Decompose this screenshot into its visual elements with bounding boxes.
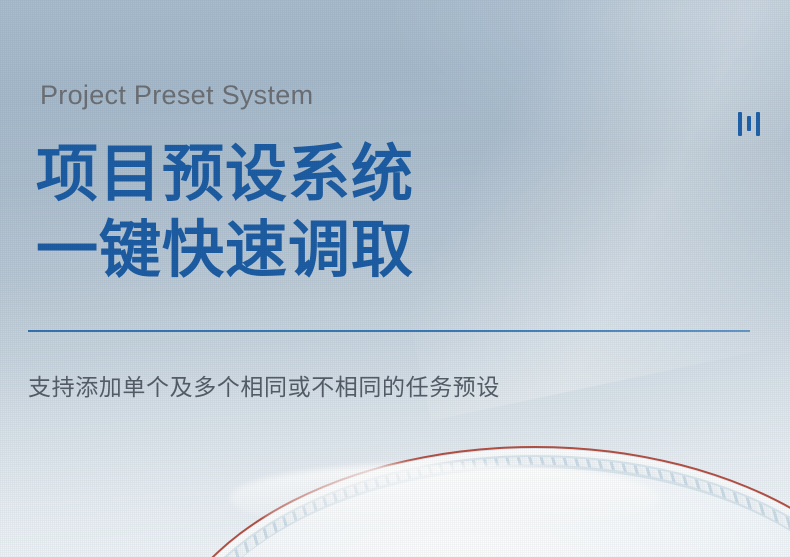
eyebrow-title: Project Preset System (40, 80, 313, 111)
dome-body (155, 449, 790, 557)
tagline-text: 支持添加单个及多个相同或不相同的任务预设 (28, 368, 500, 402)
dome-ice-texture (163, 457, 790, 557)
page-title: 项目预设系统 一键快速调取 (36, 143, 414, 281)
product-banner: Project Preset System 项目预设系统 一键快速调取 支持添加… (0, 0, 790, 557)
dome-copper-rim (153, 446, 790, 557)
logo-bar-middle (747, 116, 751, 131)
headline-line-1: 项目预设系统 (36, 143, 414, 205)
product-dome-visual (0, 437, 790, 557)
dome-highlight (230, 463, 660, 533)
three-bar-logo-mark (736, 110, 764, 138)
logo-bar-left (738, 112, 742, 136)
dome-glass-ring (161, 455, 790, 557)
divider-rule (28, 330, 750, 332)
headline-line-2: 一键快速调取 (36, 219, 414, 281)
logo-bar-right (756, 112, 760, 136)
